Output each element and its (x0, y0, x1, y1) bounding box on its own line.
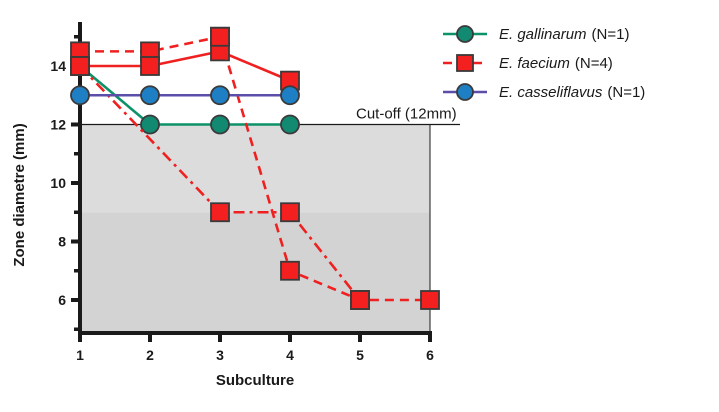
data-point-marker (281, 86, 299, 104)
x-tick-label: 3 (216, 347, 224, 363)
shaded-band-upper (80, 125, 430, 213)
data-series (71, 86, 299, 104)
legend-species-name: E. faecium (499, 55, 570, 72)
data-point-marker (71, 57, 89, 75)
data-point-marker (211, 28, 229, 46)
data-point-marker (211, 86, 229, 104)
x-tick-label: 2 (146, 347, 154, 363)
data-point-marker (211, 116, 229, 134)
legend-marker (457, 84, 473, 100)
data-point-marker (141, 57, 159, 75)
y-tick-label: 10 (50, 175, 66, 191)
x-tick-label: 5 (356, 347, 364, 363)
shaded-band-lower (80, 212, 430, 333)
y-tick-label: 6 (58, 292, 66, 308)
x-tick-label: 4 (286, 347, 294, 363)
x-axis-tick-labels: 123456 (76, 347, 434, 363)
legend-species-name: E. casseliflavus (499, 84, 603, 101)
legend-marker (457, 26, 473, 42)
y-axis-tick-labels: 68101214 (50, 58, 66, 308)
data-point-marker (211, 203, 229, 221)
data-point-marker (141, 86, 159, 104)
legend-sample-count: (N=4) (575, 55, 613, 72)
legend-entry-label: E. casseliflavus(N=1) (499, 84, 645, 101)
y-tick-label: 8 (58, 234, 66, 250)
legend-entry[interactable]: E. faecium(N=4) (443, 55, 613, 72)
y-tick-label: 14 (50, 58, 66, 74)
data-point-marker (71, 86, 89, 104)
legend-sample-count: (N=1) (592, 26, 630, 43)
legend-entry-label: E. gallinarum(N=1) (499, 26, 629, 43)
data-point-marker (421, 291, 439, 309)
data-series (71, 42, 299, 89)
zone-diameter-line-chart: 68101214 123456 Zone diametre (mm) Subcu… (0, 0, 719, 412)
legend-entry[interactable]: E. gallinarum(N=1) (443, 26, 629, 43)
legend-species-name: E. gallinarum (499, 26, 587, 43)
data-point-marker (281, 262, 299, 280)
chart-legend: E. gallinarum(N=1)E. faecium(N=4)E. cass… (443, 26, 645, 101)
legend-sample-count: (N=1) (607, 84, 645, 101)
series-line (80, 51, 290, 80)
legend-marker (457, 55, 473, 71)
x-tick-label: 1 (76, 347, 84, 363)
y-tick-label: 12 (50, 117, 66, 133)
x-axis-title: Subculture (216, 372, 294, 389)
legend-entry-label: E. faecium(N=4) (499, 55, 613, 72)
data-point-marker (281, 116, 299, 134)
x-tick-label: 6 (426, 347, 434, 363)
y-axis-title: Zone diametre (mm) (11, 123, 28, 266)
chart-figure: 68101214 123456 Zone diametre (mm) Subcu… (0, 0, 719, 412)
cut-off-annotation-label: Cut-off (12mm) (356, 106, 457, 123)
data-point-marker (281, 203, 299, 221)
legend-entry[interactable]: E. casseliflavus(N=1) (443, 84, 645, 101)
data-point-marker (351, 291, 369, 309)
